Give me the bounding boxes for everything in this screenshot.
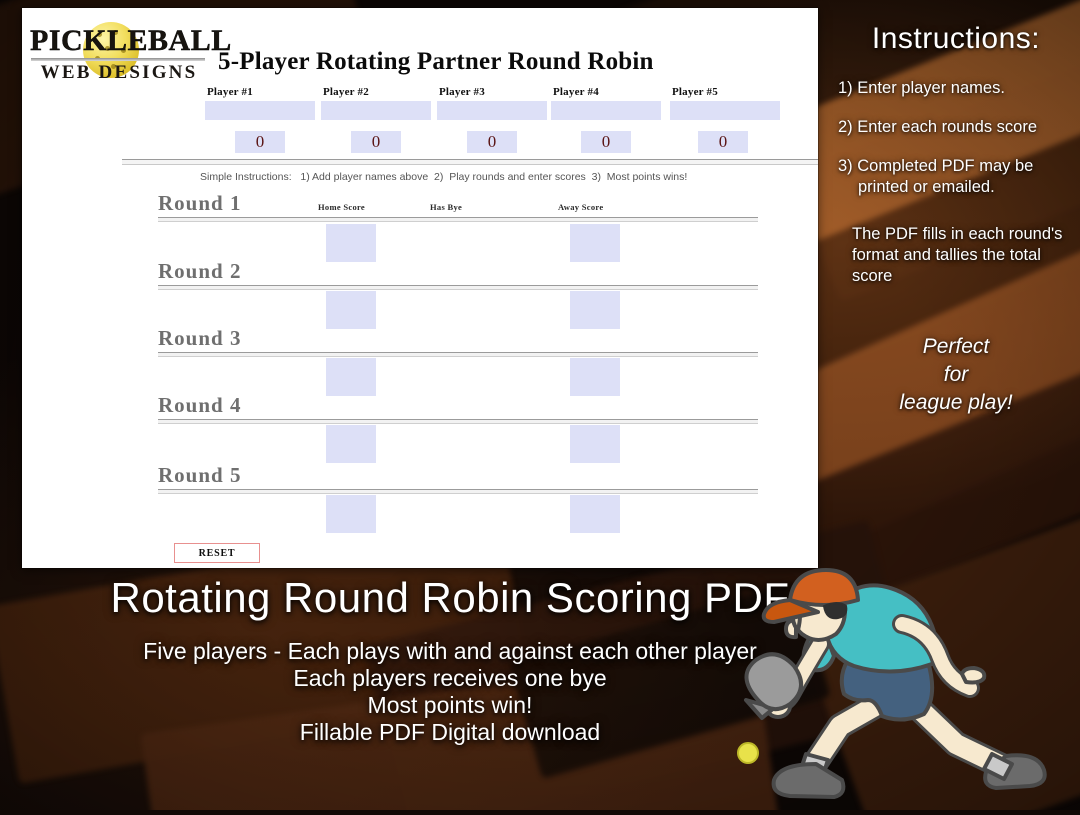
perfect-for-league-play: Perfect for league play! <box>838 333 1074 417</box>
player-total-3[interactable]: 0 <box>467 131 517 153</box>
round-divider-5 <box>158 489 758 494</box>
player-header-5: Player #5 <box>672 86 780 98</box>
header-divider <box>122 159 818 165</box>
round-label-4: Round 4 <box>158 393 241 418</box>
player-column-1: Player #1 0 <box>205 86 315 120</box>
perfect-line-3: league play! <box>838 389 1074 417</box>
player-name-input-3[interactable] <box>437 101 547 120</box>
instructions-step-1: 1) Enter player names. <box>838 78 1074 99</box>
round-divider-1 <box>158 217 758 222</box>
pdf-title: 5-Player Rotating Partner Round Robin <box>218 48 654 76</box>
round-row-3: Round 3 <box>158 321 758 351</box>
pickleball-player-illustration <box>720 548 1080 810</box>
round-row-1: Round 1 Home Score Has Bye Away Score <box>158 186 758 216</box>
player-total-5[interactable]: 0 <box>698 131 748 153</box>
has-bye-header: Has Bye <box>430 202 462 212</box>
round-label-5: Round 5 <box>158 463 241 488</box>
instructions-title: Instructions: <box>838 22 1074 56</box>
instructions-step-3: 3) Completed PDF may be printed or email… <box>838 156 1074 198</box>
away-score-header: Away Score <box>558 202 603 212</box>
perfect-line-1: Perfect <box>838 333 1074 361</box>
logo-line-2: WEB DESIGNS <box>30 62 208 84</box>
round-row-5: Round 5 <box>158 458 758 488</box>
round-label-3: Round 3 <box>158 326 241 351</box>
player-header-1: Player #1 <box>207 86 315 98</box>
home-score-header: Home Score <box>318 202 365 212</box>
round-5-away-score-input[interactable] <box>570 495 620 533</box>
player-header-3: Player #3 <box>439 86 547 98</box>
round-label-1: Round 1 <box>158 191 241 216</box>
instructions-note: The PDF fills in each round's format and… <box>852 224 1074 287</box>
simple-instructions-text: Simple Instructions: 1) Add player names… <box>200 171 687 183</box>
player-total-4[interactable]: 0 <box>581 131 631 153</box>
instructions-panel: Instructions: 1) Enter player names. 2) … <box>838 22 1074 417</box>
round-row-2: Round 2 <box>158 254 758 284</box>
player-column-3: Player #3 0 <box>437 86 547 120</box>
player-header-4: Player #4 <box>553 86 661 98</box>
instructions-step-2: 2) Enter each rounds score <box>838 117 1074 138</box>
pickleball-web-designs-logo: PICKLEBALL WEB DESIGNS <box>28 22 208 84</box>
round-row-4: Round 4 <box>158 388 758 418</box>
round-divider-3 <box>158 352 758 357</box>
player-column-4: Player #4 0 <box>551 86 661 120</box>
round-divider-4 <box>158 419 758 424</box>
perfect-line-2: for <box>838 361 1074 389</box>
player-name-input-5[interactable] <box>670 101 780 120</box>
player-header-2: Player #2 <box>323 86 431 98</box>
player-column-5: Player #5 0 <box>670 86 780 120</box>
round-5-home-score-input[interactable] <box>326 495 376 533</box>
reset-button[interactable]: RESET <box>174 543 260 563</box>
player-total-2[interactable]: 0 <box>351 131 401 153</box>
player-name-input-1[interactable] <box>205 101 315 120</box>
player-name-input-2[interactable] <box>321 101 431 120</box>
player-column-2: Player #2 0 <box>321 86 431 120</box>
logo-divider <box>31 58 205 61</box>
round-label-2: Round 2 <box>158 259 241 284</box>
player-name-input-4[interactable] <box>551 101 661 120</box>
logo-line-1: PICKLEBALL <box>30 24 208 58</box>
round-divider-2 <box>158 285 758 290</box>
player-total-1[interactable]: 0 <box>235 131 285 153</box>
pdf-preview-panel: PICKLEBALL WEB DESIGNS 5-Player Rotating… <box>22 8 818 568</box>
